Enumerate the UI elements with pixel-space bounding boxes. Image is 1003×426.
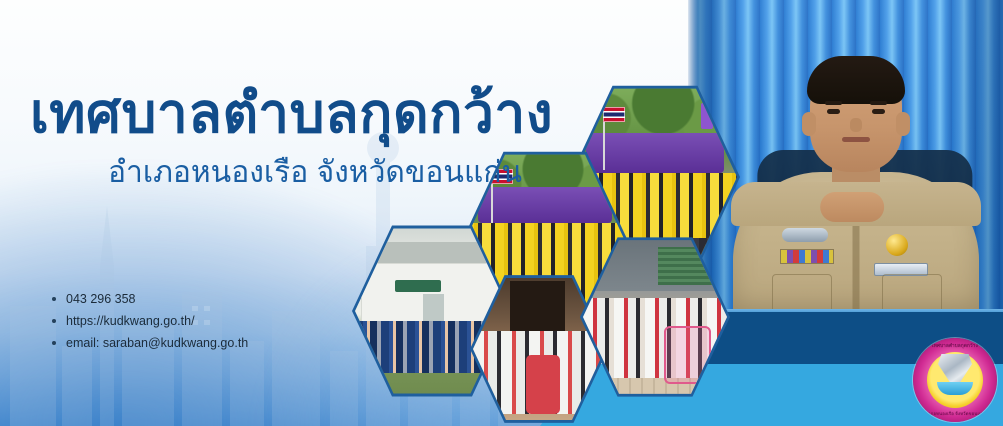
contact-email-text[interactable]: email: saraban@kudkwang.go.th <box>66 336 248 350</box>
ear-right <box>896 112 910 136</box>
contact-website[interactable]: https://kudkwang.go.th/ <box>48 310 248 332</box>
wing-insignia-icon <box>782 228 828 242</box>
seal-text-bottom: อำเภอหนองเรือ จังหวัดขอนแก่น <box>913 410 997 417</box>
mouth <box>842 137 870 142</box>
page-subtitle: อำเภอหนองเรือ จังหวัดขอนแก่น <box>108 158 522 188</box>
eye-left <box>827 109 840 114</box>
seal-text-top: เทศบาลตำบลกุดกว้าง <box>913 343 997 350</box>
ear-left <box>802 112 816 136</box>
contact-phone-text: 043 296 358 <box>66 292 136 306</box>
hair <box>807 56 905 104</box>
eyebrow-right <box>870 101 887 105</box>
page-title: เทศบาลตำบลกุดกว้าง <box>30 86 553 141</box>
clasped-hands <box>820 192 884 222</box>
municipal-seal[interactable]: เทศบาลตำบลกุดกว้าง อำเภอหนองเรือ จังหวัด… <box>913 338 997 422</box>
contact-website-text[interactable]: https://kudkwang.go.th/ <box>66 314 195 328</box>
nose <box>850 118 862 132</box>
contact-phone: 043 296 358 <box>48 288 248 310</box>
gold-medal-icon <box>886 234 908 256</box>
eye-right <box>872 109 885 114</box>
municipality-hero-banner: เทศบาลตำบลกุดกว้าง อำเภอหนองเรือ จังหวัด… <box>0 0 1003 426</box>
service-ribbons-icon <box>780 249 834 264</box>
contact-info-list: 043 296 358 https://kudkwang.go.th/ emai… <box>48 288 248 354</box>
contact-email[interactable]: email: saraban@kudkwang.go.th <box>48 332 248 354</box>
official-figure <box>731 57 981 322</box>
eyebrow-left <box>825 101 842 105</box>
